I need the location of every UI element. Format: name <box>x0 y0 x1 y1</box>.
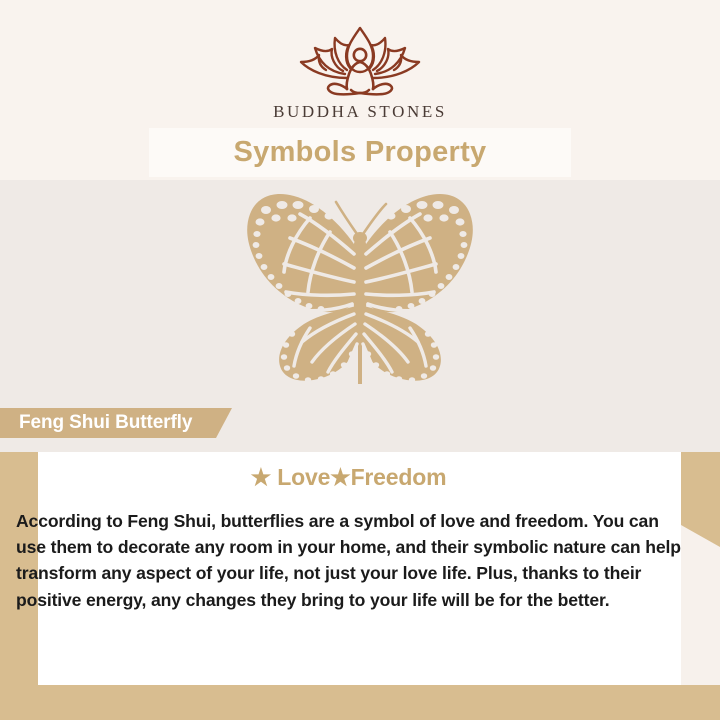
page-title: Symbols Property <box>234 136 487 169</box>
subheading-wrap: ★ Love★Freedom <box>16 452 681 491</box>
paragraph-wrap: According to Feng Shui, butterflies are … <box>16 498 688 613</box>
lotus-meditation-icon <box>285 22 435 100</box>
frame-bottom-bar <box>0 685 720 720</box>
feng-shui-tag: Feng Shui Butterfly <box>0 408 232 438</box>
brand-logo: BUDDHA STONES <box>0 22 720 122</box>
love-freedom-subheading: ★ Love★Freedom <box>16 464 681 491</box>
description-paragraph: According to Feng Shui, butterflies are … <box>16 508 688 613</box>
header-section: BUDDHA STONES Symbols Property <box>0 0 720 180</box>
page-root: BUDDHA STONES Symbols Property <box>0 0 720 720</box>
page-title-banner: Symbols Property <box>149 128 571 177</box>
description-card: ★ Love★Freedom According to Feng Shui, b… <box>38 452 681 685</box>
brand-name-text: BUDDHA STONES <box>0 102 720 122</box>
feng-shui-tag-label: Feng Shui Butterfly <box>19 412 192 434</box>
butterfly-icon <box>190 188 530 388</box>
